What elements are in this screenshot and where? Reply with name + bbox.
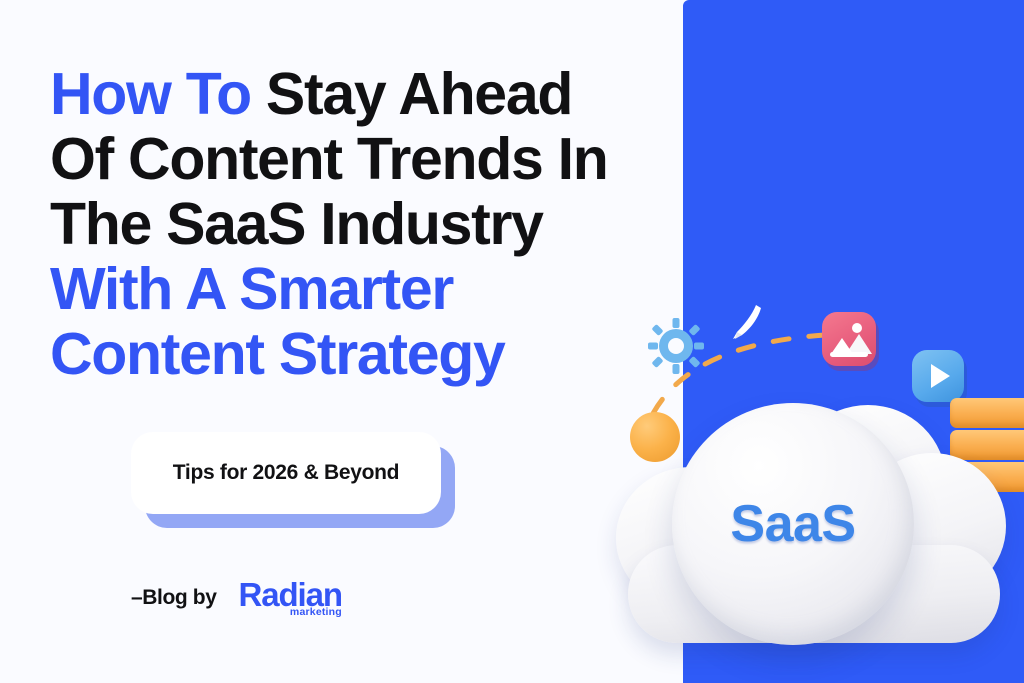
headline-line-3: The SaaS Industry [50,192,670,257]
saas-label: SaaS [730,494,855,554]
rocket-icon [730,302,764,342]
tips-pill[interactable]: Tips for 2026 & Beyond [131,432,455,528]
headline-line-2: Of Content Trends In [50,127,670,192]
image-icon [822,312,876,366]
play-triangle-icon [931,364,950,388]
poster-canvas: How To Stay Ahead Of Content Trends In T… [0,0,1024,683]
byline: –Blog by Radian marketing [131,578,342,618]
radian-logo[interactable]: Radian marketing [238,578,341,618]
image-icon-sun [852,323,862,333]
saas-cloud: SaaS [610,395,1020,645]
pill-label: Tips for 2026 & Beyond [173,461,399,485]
headline-line-1-rest: Stay Ahead [251,61,572,127]
page-title: How To Stay Ahead Of Content Trends In T… [50,62,670,387]
headline-highlight: How To [50,61,251,127]
byline-text: –Blog by [131,586,216,610]
pill-card[interactable]: Tips for 2026 & Beyond [131,432,441,514]
cloud-main-disc: SaaS [672,403,914,645]
saas-illustration: SaaS [600,290,1024,660]
image-icon-base [830,352,868,357]
headline-line-5: Content Strategy [50,322,670,387]
headline-line-1: How To Stay Ahead [50,62,670,127]
headline-line-4: With A Smarter [50,257,670,322]
